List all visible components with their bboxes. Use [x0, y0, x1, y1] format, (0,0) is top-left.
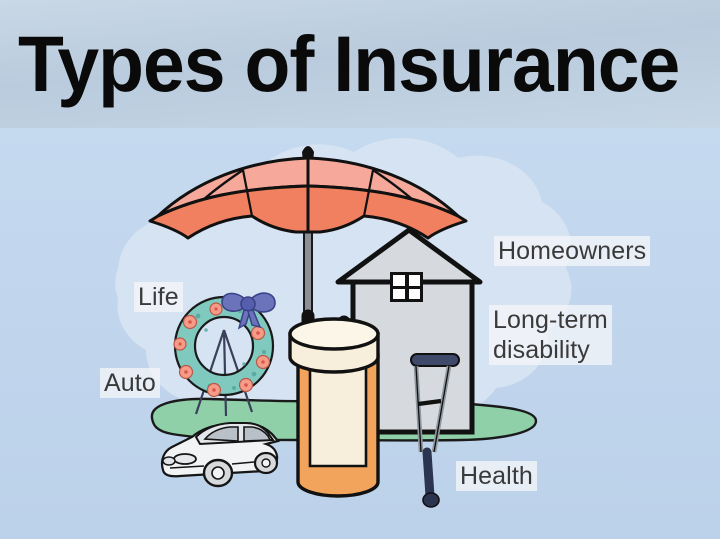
pill-bottle-illustration	[290, 319, 378, 496]
label-homeowners: Homeowners	[494, 236, 650, 266]
illustration-scene	[0, 0, 720, 539]
label-auto: Auto	[100, 368, 160, 398]
insurance-infographic: Types of Insurance	[0, 0, 720, 539]
label-health: Health	[456, 461, 537, 491]
label-long-term-disability: Long-term disability	[489, 305, 612, 365]
label-life: Life	[134, 282, 183, 312]
